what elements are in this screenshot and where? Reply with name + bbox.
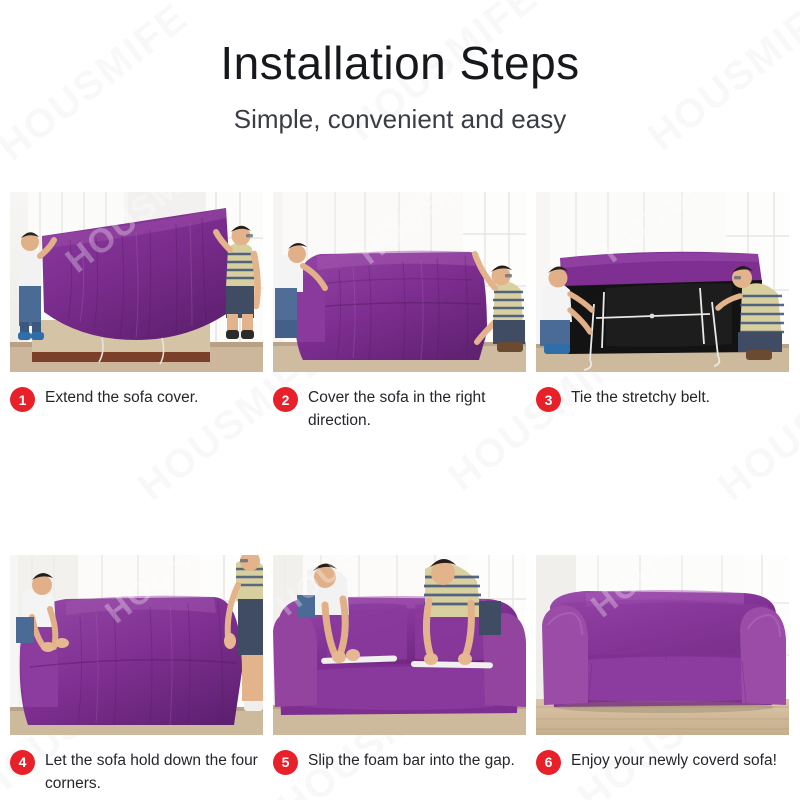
step-card-6: HOUSMIFE 6 Enjoy your newly coverd sofa! — [536, 555, 789, 796]
step-number-badge-1: 1 — [10, 387, 35, 412]
step-caption-text-1: Extend the sofa cover. — [45, 386, 198, 409]
step-card-4: HOUSMIFE 4 Let the sofa hold down the fo… — [10, 555, 263, 796]
step-number-badge-4: 4 — [10, 750, 35, 775]
installation-steps-infographic: Installation Steps Simple, convenient an… — [0, 0, 800, 800]
step-caption-text-3: Tie the stretchy belt. — [571, 386, 710, 409]
step-photo-5: HOUSMIFE — [273, 555, 526, 735]
step-photo-4: HOUSMIFE — [10, 555, 263, 735]
step-card-1: HOUSMIFE 1 Extend the sofa cover. — [10, 192, 263, 433]
step-card-5: HOUSMIFE 5 Slip the foam bar into the ga… — [273, 555, 526, 796]
step-number-badge-2: 2 — [273, 387, 298, 412]
step-caption-6: 6 Enjoy your newly coverd sofa! — [536, 749, 789, 775]
step-card-2: HOUSMIFE 2 Cover the sofa in the right d… — [273, 192, 526, 433]
step-caption-text-5: Slip the foam bar into the gap. — [308, 749, 515, 772]
step-photo-6: HOUSMIFE — [536, 555, 789, 735]
step-caption-text-2: Cover the sofa in the right direction. — [308, 386, 526, 433]
step-caption-5: 5 Slip the foam bar into the gap. — [273, 749, 526, 775]
page-subtitle: Simple, convenient and easy — [0, 106, 800, 132]
step-card-3: HOUSMIFE 3 Tie the stretchy belt. — [536, 192, 789, 433]
step-photo-3: HOUSMIFE — [536, 192, 789, 372]
step-caption-3: 3 Tie the stretchy belt. — [536, 386, 789, 412]
page-title: Installation Steps — [0, 40, 800, 86]
step-number-badge-3: 3 — [536, 387, 561, 412]
steps-grid: HOUSMIFE 1 Extend the sofa cover. — [10, 192, 790, 795]
step-number-badge-5: 5 — [273, 750, 298, 775]
step-caption-text-6: Enjoy your newly coverd sofa! — [571, 749, 777, 772]
step-number-badge-6: 6 — [536, 750, 561, 775]
step-photo-2: HOUSMIFE — [273, 192, 526, 372]
step-caption-2: 2 Cover the sofa in the right direction. — [273, 386, 526, 433]
step-caption-4: 4 Let the sofa hold down the four corner… — [10, 749, 263, 796]
step-photo-1: HOUSMIFE — [10, 192, 263, 372]
steps-row-2: HOUSMIFE 4 Let the sofa hold down the fo… — [10, 555, 790, 796]
steps-row-1: HOUSMIFE 1 Extend the sofa cover. — [10, 192, 790, 433]
header: Installation Steps Simple, convenient an… — [0, 0, 800, 132]
step-caption-text-4: Let the sofa hold down the four corners. — [45, 749, 263, 796]
step-caption-1: 1 Extend the sofa cover. — [10, 386, 263, 412]
